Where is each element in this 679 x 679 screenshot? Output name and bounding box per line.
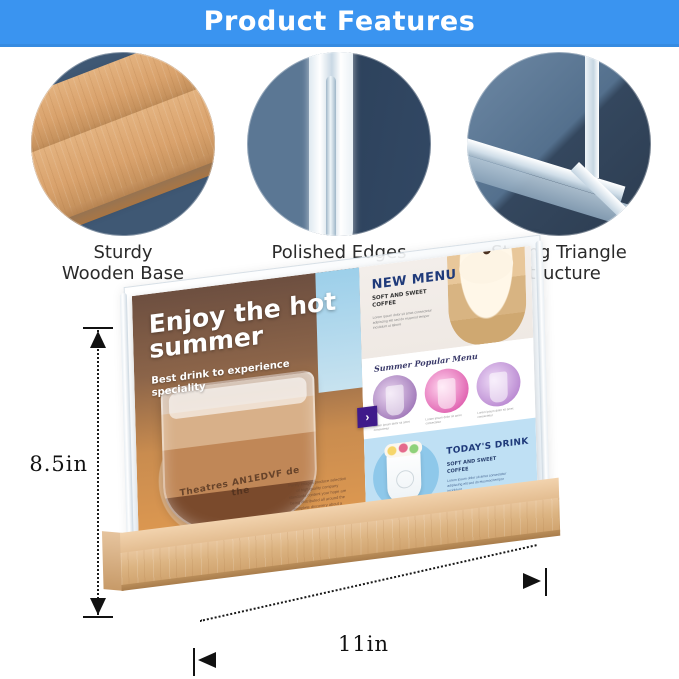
acrylic-edge-panel (309, 52, 353, 236)
feature-item-wooden-base: Sturdy Wooden Base (10, 52, 236, 284)
height-dimension-line (97, 330, 99, 615)
polished-edges-icon (247, 52, 431, 236)
chevron-right-icon: › (357, 406, 377, 429)
cup-logo-icon (396, 469, 414, 489)
poster-headline: Enjoy the hot summer (148, 288, 339, 362)
frappe-photo (447, 246, 527, 349)
width-arrow-left-icon (198, 652, 216, 668)
vertical-acrylic-wall (585, 52, 599, 178)
height-top-cap (83, 327, 113, 329)
strong-triangle-structure-icon (467, 52, 651, 236)
width-left-cap (193, 648, 195, 676)
width-dimension-label: 11in (338, 632, 389, 656)
new-menu-title: NEW MENU (371, 267, 456, 293)
height-dimension-label: 8.5in (6, 452, 88, 476)
acrylic-channel (326, 76, 336, 236)
height-arrow-down-icon (90, 598, 106, 615)
drink-thumb-3 (476, 359, 521, 409)
feature-caption-line1: Sturdy (10, 242, 236, 263)
polished-edge-image-wrap (247, 52, 431, 236)
drink-thumb-2 (424, 366, 469, 416)
product-feature-infographic: Product Features Sturdy Wooden Base (0, 0, 679, 679)
drink-thumb-1 (372, 373, 417, 423)
poster-right-panel: NEW MENU SOFT AND SWEET COFFEE Lorem ips… (359, 246, 538, 524)
height-arrow-up-icon (90, 331, 106, 348)
wooden-base-image-wrap (31, 52, 215, 236)
sturdy-wooden-base-icon (31, 52, 215, 236)
new-menu-body: Lorem ipsum dolor sit amet consectetur a… (373, 308, 439, 331)
cup-brand-text: Theatres AN1EDVF de the (177, 465, 304, 509)
feature-row: Sturdy Wooden Base Polished Edges (0, 52, 679, 284)
triangle-structure-image-wrap (467, 52, 651, 236)
header-banner: Product Features (0, 0, 679, 47)
page-title: Product Features (0, 6, 679, 37)
height-bottom-cap (83, 616, 113, 618)
width-arrow-right-icon (523, 573, 541, 589)
fruit-topping (384, 440, 422, 459)
todays-drink-title: TODAY'S DRINK (446, 437, 528, 457)
width-right-cap (545, 568, 547, 596)
